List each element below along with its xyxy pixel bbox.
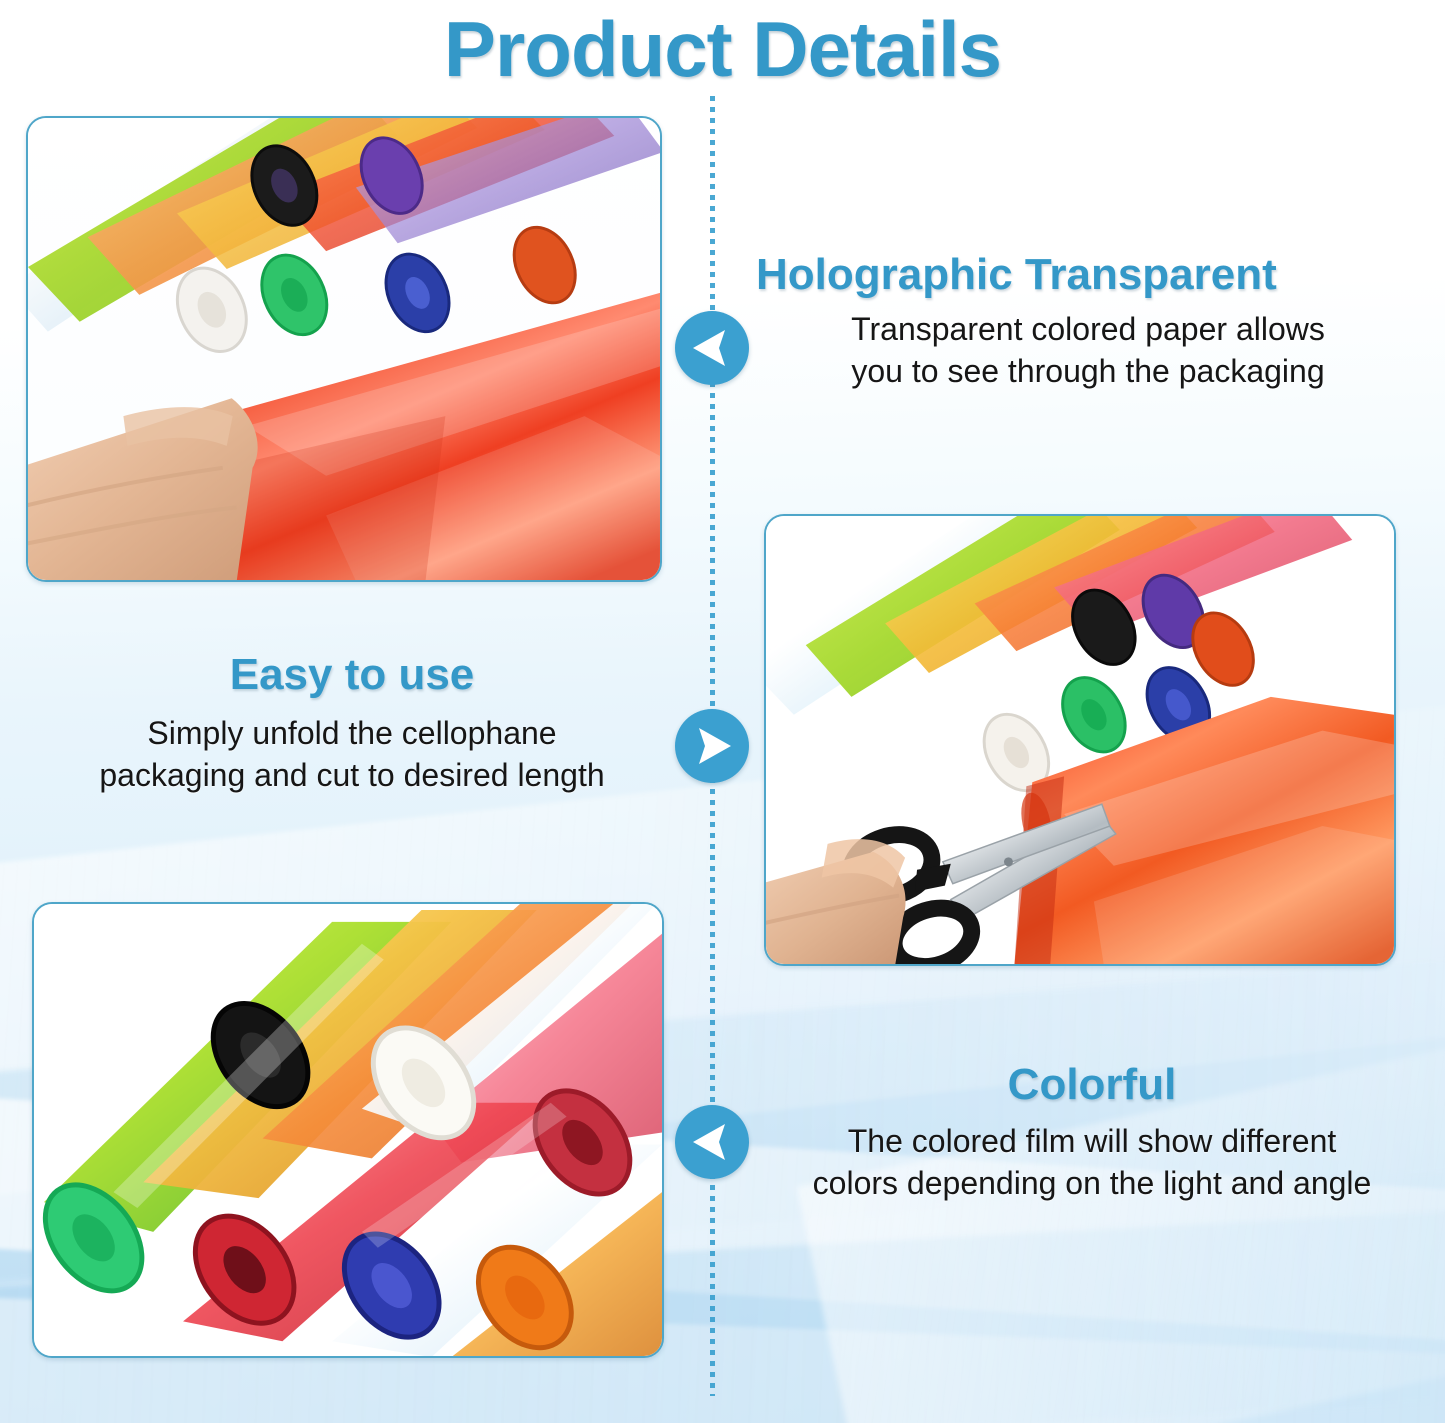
photo-stack-of-colored-rolls [32,902,664,1358]
arrow-left-icon [675,1105,749,1179]
feature-heading: Easy to use [36,652,668,698]
feature-body-line: Simply unfold the cellophane [36,712,668,754]
feature-heading: Colorful [756,1062,1428,1108]
feature-easy-to-use: Easy to use Simply unfold the cellophane… [36,652,668,797]
feature-body-line: packaging and cut to desired length [36,754,668,796]
feature-body: Transparent colored paper allows you to … [752,308,1424,392]
feature-body: The colored film will show different col… [756,1120,1428,1204]
feature-holographic: Holographic Transparent Transparent colo… [752,252,1424,393]
page-title: Product Details [0,4,1445,95]
photo-scissors-cutting-cellophane [764,514,1396,966]
feature-body-line: you to see through the packaging [752,350,1424,392]
photo-hand-holding-red-cellophane [26,116,662,582]
arrow-left-icon [675,311,749,385]
feature-body: Simply unfold the cellophane packaging a… [36,712,668,796]
product-details-infographic: Product Details [0,0,1445,1423]
feature-heading: Holographic Transparent [756,252,1424,298]
feature-colorful: Colorful The colored film will show diff… [756,1062,1428,1205]
feature-body-line: Transparent colored paper allows [752,308,1424,350]
feature-body-line: colors depending on the light and angle [756,1162,1428,1204]
feature-body-line: The colored film will show different [756,1120,1428,1162]
photo-artwork [766,516,1394,965]
photo-artwork [28,118,660,581]
arrow-right-icon [675,709,749,783]
photo-artwork [34,904,662,1357]
